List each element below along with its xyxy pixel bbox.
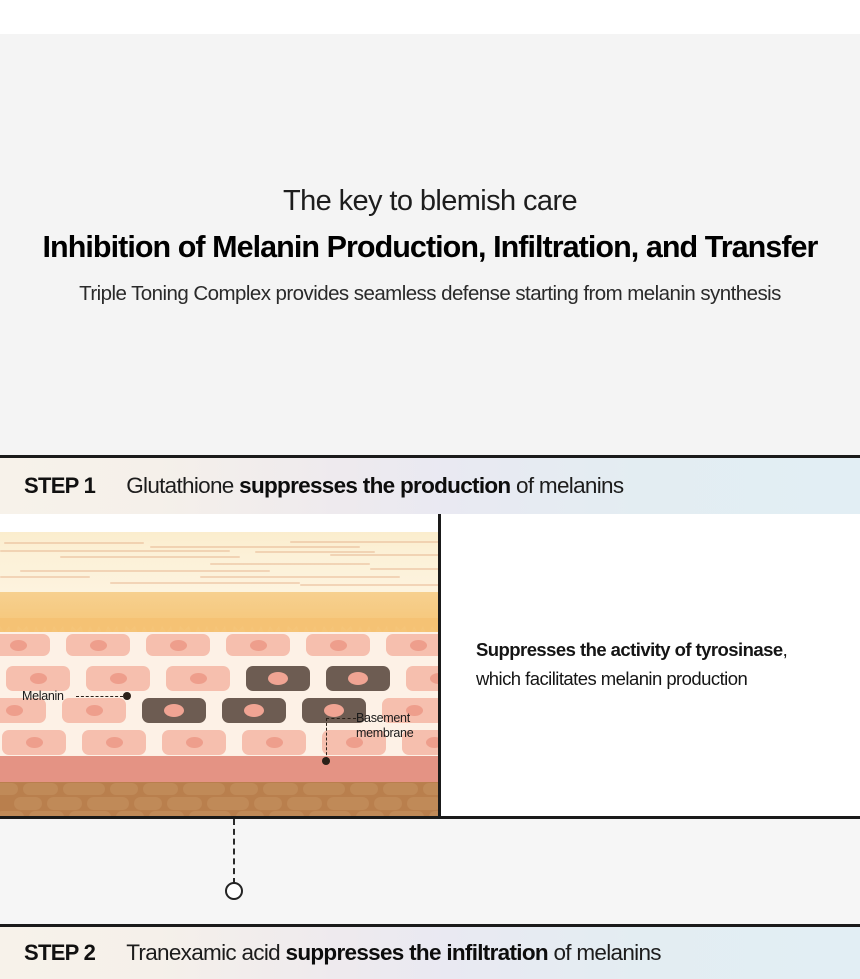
cell-nucleus (190, 673, 207, 684)
dermis-cell (207, 797, 249, 810)
dermis-cell (110, 783, 138, 795)
basement-label-line-1: Basement (356, 711, 410, 725)
cell-nucleus (86, 705, 103, 716)
corneum-striation (150, 546, 360, 548)
corneum-striation (110, 582, 300, 584)
cell-nucleus (90, 640, 107, 651)
keratinocyte-cell (226, 634, 290, 656)
basement-membrane-label: Basement membrane (356, 711, 413, 741)
dermis-cell (23, 783, 58, 795)
keratinocyte-cell (6, 666, 70, 691)
dermis-cell (356, 811, 384, 816)
dermis-cell (134, 797, 162, 810)
corneum-striation (330, 554, 440, 556)
corneum-striation (4, 542, 144, 544)
connector-circle-icon (225, 882, 243, 900)
step-1-tag: STEP 1 (24, 473, 95, 499)
dermis-cell (87, 797, 129, 810)
step-2-tag: STEP 2 (24, 940, 95, 966)
cell-nucleus (268, 672, 288, 685)
keratinocyte-cell (386, 634, 441, 656)
dermis-cell (263, 783, 298, 795)
cell-nucleus (110, 673, 127, 684)
step-1-banner: STEP 1 Glutathione suppresses the produc… (0, 455, 860, 514)
corneum-striation (0, 576, 90, 578)
hero-eyebrow: The key to blemish care (283, 186, 577, 218)
dermis-cell (230, 783, 258, 795)
cell-nucleus (348, 672, 368, 685)
keratinocyte-cell (166, 666, 230, 691)
cell-nucleus (266, 737, 283, 748)
dermis-cell (0, 783, 18, 795)
corneum-striation (20, 570, 270, 572)
dermis-cell (389, 811, 424, 816)
corneum-striation (60, 556, 240, 558)
dermis-cell (429, 811, 441, 816)
keratinocyte-cell (86, 666, 150, 691)
cell-nucleus (244, 704, 264, 717)
dermis-cell (254, 797, 282, 810)
keratinocyte-cell (146, 634, 210, 656)
info-line-1: Suppresses the activity of tyrosinase, (476, 636, 840, 665)
dermis-cell (183, 783, 225, 795)
step-1-text-after: of melanins (510, 473, 623, 498)
keratinocyte-cell (62, 698, 126, 723)
skin-cross-section-diagram (0, 514, 441, 816)
dermis-cell (423, 783, 441, 795)
melanin-cell (222, 698, 286, 723)
dermis-cell (303, 783, 345, 795)
infographic-page: The key to blemish care Inhibition of Me… (0, 0, 860, 979)
info-bold-tail: , (783, 639, 788, 660)
info-line-2: which facilitates melanin production (476, 665, 840, 694)
step-1-info-panel: Suppresses the activity of tyrosinase, w… (441, 514, 860, 816)
dermis-cell (269, 811, 304, 816)
dermis-cell (29, 811, 64, 816)
info-bold-text: Suppresses the activity of tyrosinase (476, 639, 783, 660)
dermis-cell (287, 797, 322, 810)
melanin-label: Melanin (22, 689, 64, 704)
dermis-cell (149, 811, 184, 816)
dermis-cell (143, 783, 178, 795)
dermis-cell (374, 797, 402, 810)
cell-nucleus (330, 640, 347, 651)
keratinocyte-cell (0, 634, 50, 656)
dermis-cell (309, 811, 351, 816)
basement-leader-horizontal (326, 718, 356, 719)
hero-section: The key to blemish care Inhibition of Me… (0, 34, 860, 458)
cell-nucleus (106, 737, 123, 748)
connector-area (0, 819, 860, 924)
step-2-text-before: Tranexamic acid (126, 940, 285, 965)
corneum-striation (210, 563, 370, 565)
basement-leader-vertical (326, 718, 327, 760)
step-2-heading: Tranexamic acid suppresses the infiltrat… (126, 940, 661, 966)
step-1-heading: Glutathione suppresses the production of… (126, 473, 623, 499)
step-1-text-bold: suppresses the production (239, 473, 510, 498)
melanin-cell (142, 698, 206, 723)
cell-nucleus (250, 640, 267, 651)
step-1-body: Suppresses the activity of tyrosinase, w… (0, 514, 860, 819)
dermis-cell (47, 797, 82, 810)
dermis-cell (383, 783, 418, 795)
hero-subline: Triple Toning Complex provides seamless … (79, 282, 781, 307)
dermis-cell (327, 797, 369, 810)
cell-nucleus (430, 673, 441, 684)
cell-nucleus (6, 705, 23, 716)
dermis-cell (350, 783, 378, 795)
step-1-text-before: Glutathione (126, 473, 239, 498)
step-2-text-after: of melanins (548, 940, 661, 965)
connector-dashed-line (233, 819, 235, 884)
keratinocyte-cell (406, 666, 441, 691)
corneum-striation (300, 584, 440, 586)
cell-nucleus (186, 737, 203, 748)
dermis-cell (189, 811, 231, 816)
corneum-striation (290, 541, 440, 543)
dermis-cell (236, 811, 264, 816)
melanin-cell (246, 666, 310, 691)
dermis-cell (69, 811, 111, 816)
cell-nucleus (170, 640, 187, 651)
cell-nucleus (426, 737, 441, 748)
step-2-text-bold: suppresses the infiltration (286, 940, 548, 965)
keratinocyte-cell (66, 634, 130, 656)
dermis-cell (116, 811, 144, 816)
melanin-leader-line (76, 696, 123, 697)
basement-label-line-2: membrane (356, 726, 413, 740)
corneum-striation (255, 551, 375, 553)
cell-nucleus (410, 640, 427, 651)
dermis-cell (63, 783, 105, 795)
cell-nucleus (30, 673, 47, 684)
corneum-striation (370, 568, 440, 570)
melanin-pointer-dot (123, 692, 131, 700)
dermis-cell (167, 797, 202, 810)
cell-nucleus (164, 704, 184, 717)
stratum-corneum-layer (0, 532, 441, 592)
keratinocyte-cell (306, 634, 370, 656)
epidermis-layer (0, 632, 441, 762)
dermis-cell (407, 797, 441, 810)
step-2-banner: STEP 2 Tranexamic acid suppresses the in… (0, 924, 860, 979)
cell-nucleus (26, 737, 43, 748)
corneum-striation (200, 576, 400, 578)
cell-nucleus (10, 640, 27, 651)
cell-nucleus (324, 704, 344, 717)
dermis-cell (14, 797, 42, 810)
basement-pointer-dot (322, 757, 330, 765)
melanin-cell (326, 666, 390, 691)
corneum-striation (0, 550, 230, 552)
dermis-cell (0, 811, 24, 816)
hero-headline: Inhibition of Melanin Production, Infilt… (43, 230, 818, 265)
dermis-layer (0, 782, 441, 816)
